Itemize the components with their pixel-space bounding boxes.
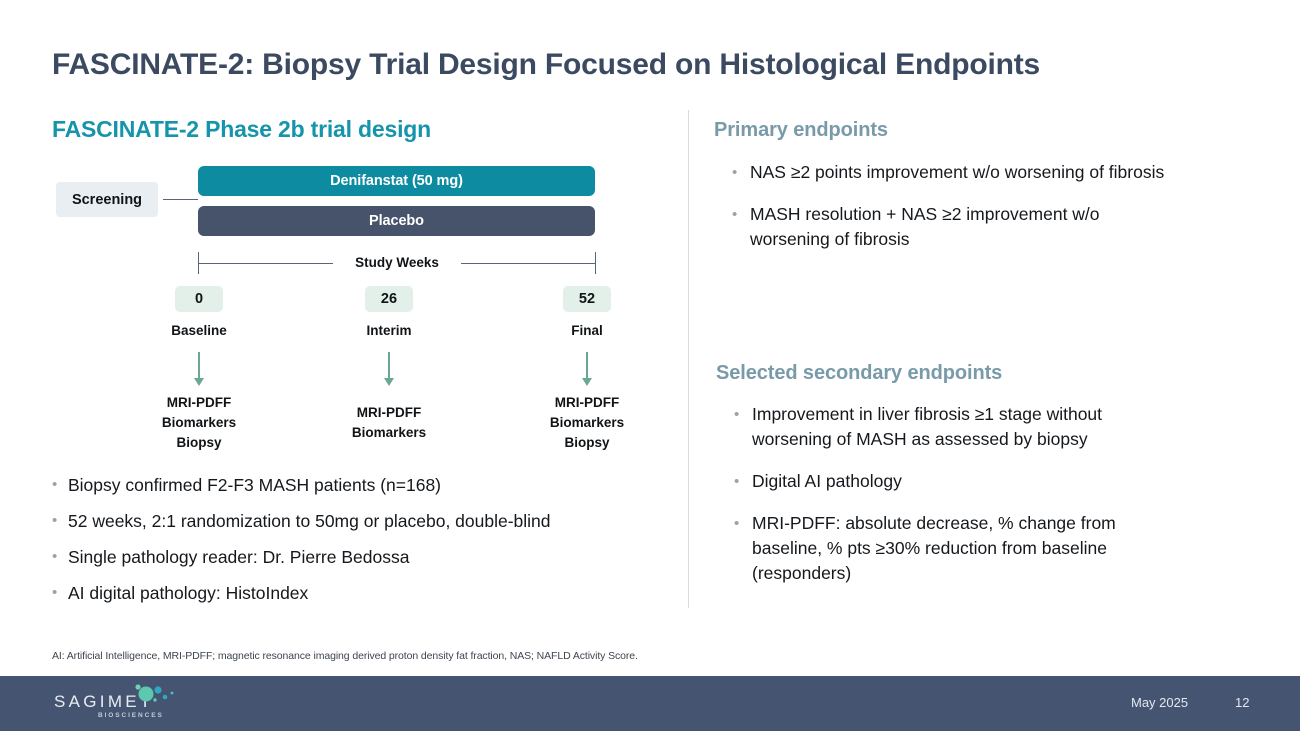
bullet-dot-icon: • xyxy=(732,202,750,227)
trial-design-heading: FASCINATE-2 Phase 2b trial design xyxy=(52,116,431,143)
treatment-arm-bar: Denifanstat (50 mg) xyxy=(198,166,595,196)
study-weeks-axis: Study Weeks xyxy=(198,252,596,274)
panel-divider xyxy=(688,110,689,608)
week-chip: 52 xyxy=(563,286,611,312)
timepoint-final: 52 Final MRI-PDFF Biomarkers Biopsy xyxy=(517,286,657,453)
footnote: AI: Artificial Intelligence, MRI-PDFF; m… xyxy=(52,650,638,662)
list-item-text: Single pathology reader: Dr. Pierre Bedo… xyxy=(68,546,409,568)
placebo-arm-bar: Placebo xyxy=(198,206,595,236)
list-item: • NAS ≥2 points improvement w/o worsenin… xyxy=(732,160,1184,185)
primary-endpoints-heading: Primary endpoints xyxy=(714,119,888,142)
timepoint-baseline: 0 Baseline MRI-PDFF Biomarkers Biopsy xyxy=(129,286,269,453)
primary-endpoints-list: • NAS ≥2 points improvement w/o worsenin… xyxy=(732,160,1184,269)
list-item-text: 52 weeks, 2:1 randomization to 50mg or p… xyxy=(68,510,551,532)
timepoint-assessments: MRI-PDFF Biomarkers xyxy=(319,403,459,443)
screening-label: Screening xyxy=(72,192,142,208)
bullet-dot-icon: • xyxy=(734,511,752,536)
list-item: • MRI-PDFF: absolute decrease, % change … xyxy=(734,511,1186,586)
left-panel: FASCINATE-2 Phase 2b trial design Screen… xyxy=(0,0,688,640)
list-item: • MASH resolution + NAS ≥2 improvement w… xyxy=(732,202,1184,252)
timepoint-name: Interim xyxy=(319,323,459,338)
list-item: • Digital AI pathology xyxy=(734,469,1186,494)
footer-page-number: 12 xyxy=(1235,695,1249,710)
list-item: • Single pathology reader: Dr. Pierre Be… xyxy=(52,546,672,568)
timepoint-name: Baseline xyxy=(129,323,269,338)
down-arrow-icon xyxy=(581,352,593,386)
down-arrow-icon xyxy=(383,352,395,386)
list-item: • Biopsy confirmed F2-F3 MASH patients (… xyxy=(52,474,672,496)
placebo-arm-label: Placebo xyxy=(369,213,424,229)
bullet-dot-icon: • xyxy=(734,469,752,494)
bullet-dot-icon: • xyxy=(52,474,68,496)
list-item-text: Improvement in liver fibrosis ≥1 stage w… xyxy=(752,402,1186,452)
timepoint-interim: 26 Interim MRI-PDFF Biomarkers xyxy=(319,286,459,443)
treatment-arm-label: Denifanstat (50 mg) xyxy=(330,173,463,189)
axis-label: Study Weeks xyxy=(328,252,466,274)
list-item: • 52 weeks, 2:1 randomization to 50mg or… xyxy=(52,510,672,532)
list-item: • AI digital pathology: HistoIndex xyxy=(52,582,672,604)
list-item-text: Biopsy confirmed F2-F3 MASH patients (n=… xyxy=(68,474,441,496)
timepoint-assessments: MRI-PDFF Biomarkers Biopsy xyxy=(517,393,657,453)
list-item-text: NAS ≥2 points improvement w/o worsening … xyxy=(750,160,1164,185)
sagimet-logo: SAGIMET BIOSCIENCES xyxy=(54,690,214,726)
down-arrow-icon xyxy=(193,352,205,386)
screening-box: Screening xyxy=(56,182,158,217)
screening-connector-line xyxy=(163,199,198,200)
secondary-endpoints-heading: Selected secondary endpoints xyxy=(716,362,1002,385)
list-item: • Improvement in liver fibrosis ≥1 stage… xyxy=(734,402,1186,452)
list-item-text: MRI-PDFF: absolute decrease, % change fr… xyxy=(752,511,1186,586)
list-item-text: Digital AI pathology xyxy=(752,469,902,494)
logo-dots-icon xyxy=(122,684,182,710)
axis-line-left xyxy=(198,263,333,264)
list-item-text: MASH resolution + NAS ≥2 improvement w/o… xyxy=(750,202,1184,252)
timepoint-name: Final xyxy=(517,323,657,338)
left-bullet-list: • Biopsy confirmed F2-F3 MASH patients (… xyxy=(52,474,672,618)
timepoint-assessments: MRI-PDFF Biomarkers Biopsy xyxy=(129,393,269,453)
secondary-endpoints-list: • Improvement in liver fibrosis ≥1 stage… xyxy=(734,402,1186,603)
logo-subtitle: BIOSCIENCES xyxy=(98,712,164,719)
bullet-dot-icon: • xyxy=(52,510,68,532)
list-item-text: AI digital pathology: HistoIndex xyxy=(68,582,308,604)
bullet-dot-icon: • xyxy=(732,160,750,185)
bullet-dot-icon: • xyxy=(734,402,752,427)
bullet-dot-icon: • xyxy=(52,546,68,568)
axis-tick-end xyxy=(595,252,596,274)
week-chip: 26 xyxy=(365,286,413,312)
axis-line-right xyxy=(461,263,596,264)
week-chip: 0 xyxy=(175,286,223,312)
bullet-dot-icon: • xyxy=(52,582,68,604)
footer-date: May 2025 xyxy=(1131,695,1188,710)
